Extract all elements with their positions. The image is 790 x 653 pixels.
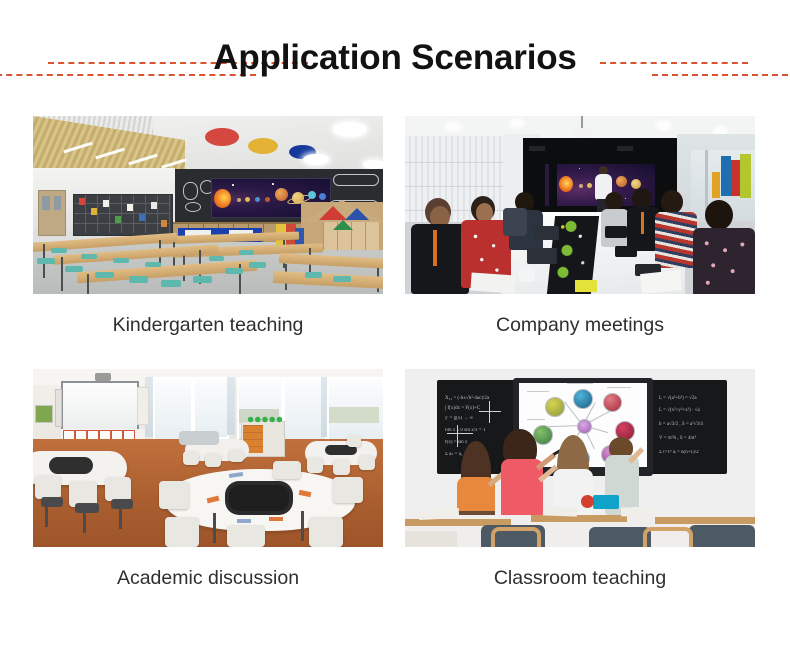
scenario-card-classroom-teaching[interactable]: X₁₂ = (-b±√b²-4ac)/2a ∫ f(x)dx = F(x)+C … xyxy=(405,369,755,591)
page-title: Application Scenarios xyxy=(0,36,790,80)
scenario-caption: Classroom teaching xyxy=(405,565,755,591)
page-header: Application Scenarios xyxy=(0,0,790,110)
interactive-whiteboard xyxy=(61,381,139,433)
scenario-card-kindergarten[interactable]: Kindergarten teaching xyxy=(33,116,383,338)
kindergarten-classroom-photo xyxy=(33,116,383,294)
scenario-caption: Academic discussion xyxy=(33,565,383,591)
scenario-card-academic-discussion[interactable]: Academic discussion xyxy=(33,369,383,591)
academic-discussion-room-photo xyxy=(33,369,383,547)
scenario-gallery: Kindergarten teaching xyxy=(0,110,790,653)
ceiling-disc-red xyxy=(205,128,239,146)
company-meeting-room-photo xyxy=(405,116,755,294)
ceiling-disc-yellow xyxy=(248,138,278,154)
scenario-caption: Company meetings xyxy=(405,312,755,338)
scenario-caption: Kindergarten teaching xyxy=(33,312,383,338)
scenario-card-company-meetings[interactable]: Company meetings xyxy=(405,116,755,338)
classroom-teaching-photo: X₁₂ = (-b±√b²-4ac)/2a ∫ f(x)dx = F(x)+C … xyxy=(405,369,755,547)
